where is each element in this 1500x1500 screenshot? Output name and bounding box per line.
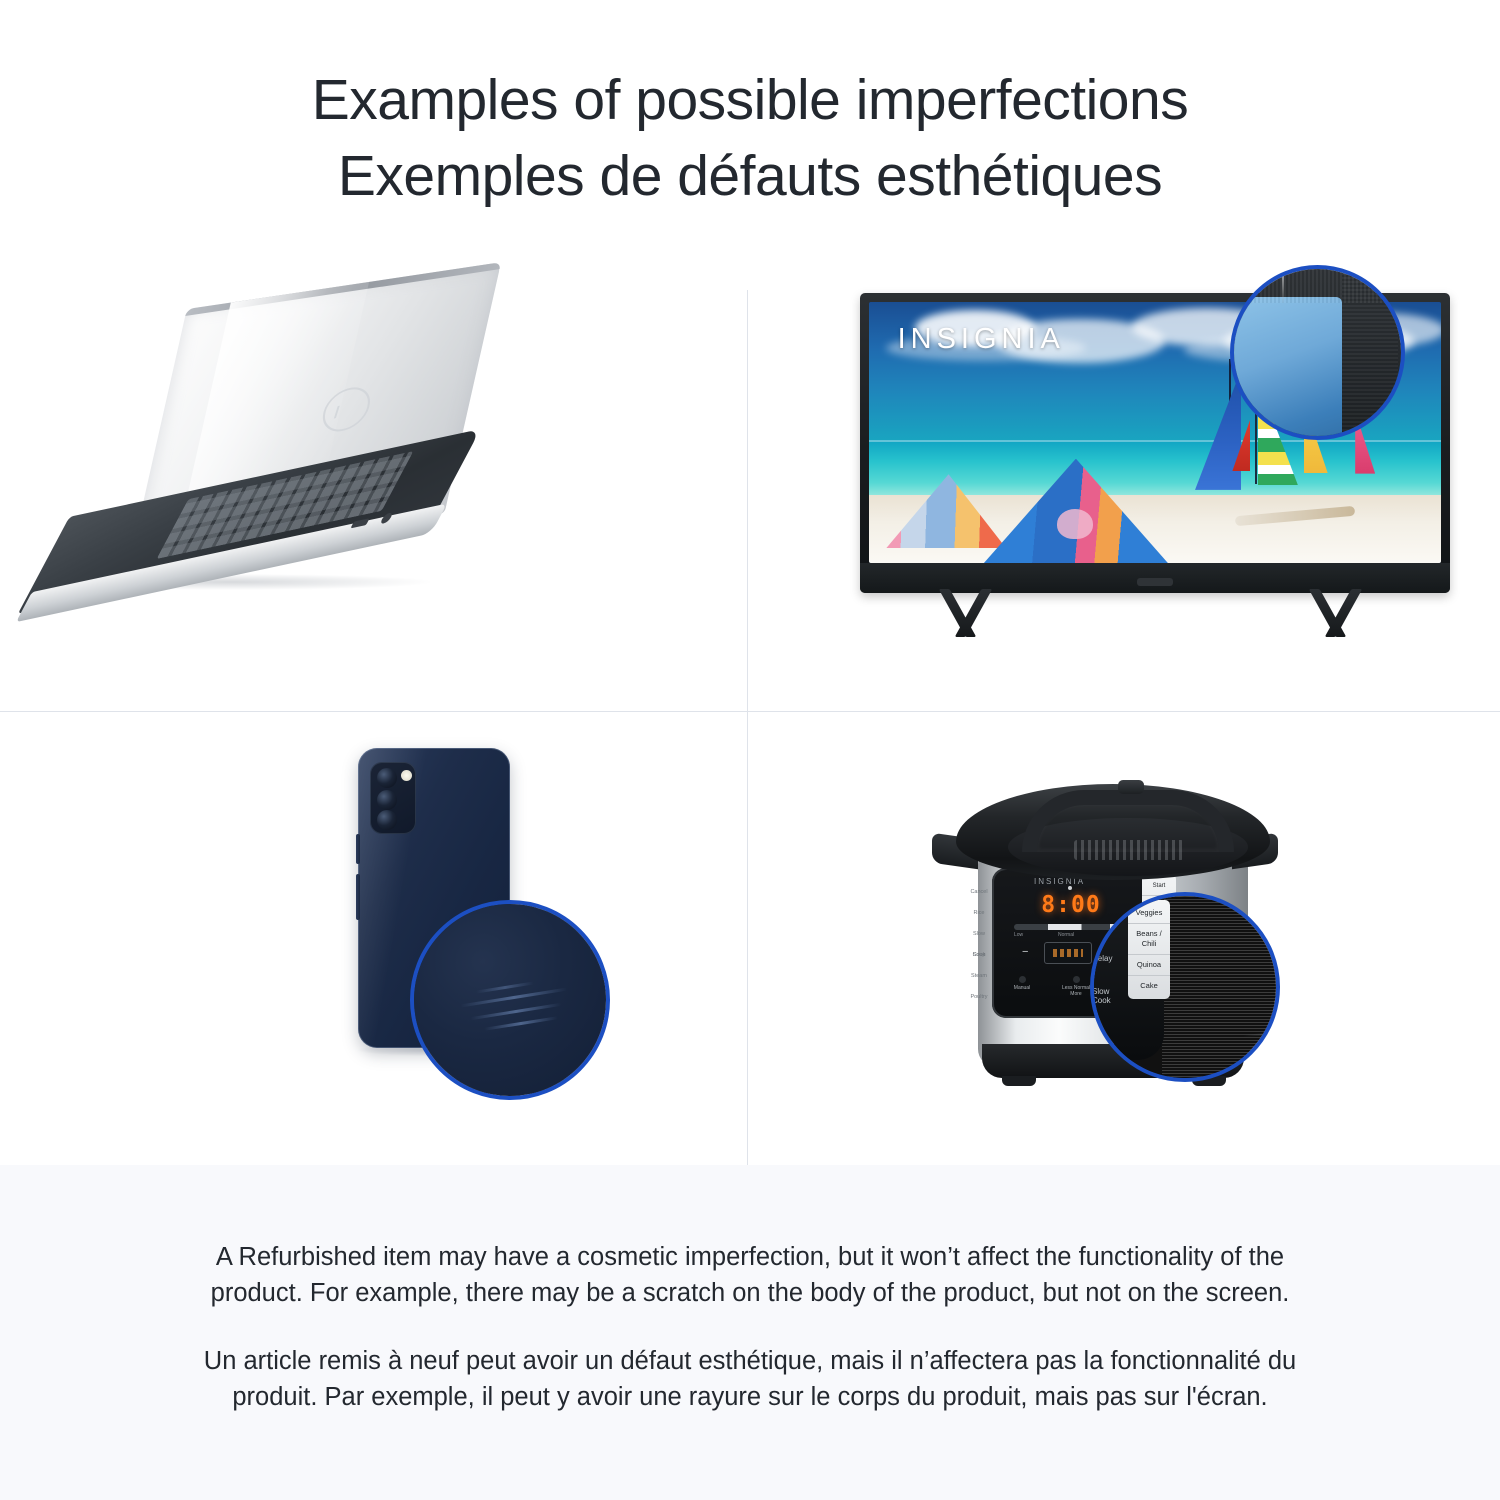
refurbished-imperfections-infographic: Examples of possible imperfections Exemp…	[0, 0, 1500, 1500]
magnified-button-cake[interactable]: Cake	[1128, 976, 1170, 996]
magnified-button-quinoa[interactable]: Quinoa	[1128, 955, 1170, 976]
cooker-scratch-mark	[1244, 1029, 1280, 1036]
camera-lens-icon	[377, 810, 397, 830]
examples-grid: INSIGNIA	[0, 258, 1500, 1165]
camera-lens-icon	[377, 790, 397, 810]
cooker-lid-handle[interactable]	[1022, 790, 1234, 852]
magnifier-tv-bezel	[1230, 265, 1405, 440]
cooker-button-poultry[interactable]: Poultry	[966, 987, 992, 1008]
magnified-button-column: Veggies Beans / Chili Quinoa Cake	[1128, 900, 1170, 999]
magnifier-tv-surface	[1234, 269, 1401, 436]
tv-leg	[1280, 589, 1390, 637]
cooker-pressure-normal-label: Normal	[1058, 932, 1074, 938]
cooker-button-cancel[interactable]: Cancel	[966, 882, 992, 903]
magnified-button-slow-cook[interactable]: Slow Cook	[1090, 975, 1128, 1017]
tv-illustration: INSIGNIA	[860, 293, 1480, 663]
cooker-foot	[1002, 1076, 1036, 1086]
camera-lens-icon	[377, 768, 397, 788]
cooker-button-soup[interactable]: Soup	[966, 945, 992, 966]
disclaimer-french: Un article remis à neuf peut avoir un dé…	[175, 1343, 1325, 1415]
tv-screen-logo: INSIGNIA	[898, 323, 1065, 356]
magnified-button-beans-chili[interactable]: Beans / Chili	[1128, 924, 1170, 955]
phone-scratch-mark	[484, 1016, 558, 1031]
cell-pressure-cooker: INSIGNIA 8:00 Low Normal High − + Manual…	[750, 712, 1500, 1166]
cooker-lower-button[interactable]: Manual	[1006, 976, 1038, 997]
cooker-indicator-led	[1068, 886, 1072, 890]
magnifier-cooker-surface: Delay Slow Cook Veggies Beans / Chili Qu…	[1094, 896, 1276, 1078]
cooker-lower-button-label: Manual	[1014, 985, 1030, 991]
cooker-minus-button[interactable]: −	[1022, 946, 1028, 958]
phone-volume-button	[356, 874, 360, 920]
cooker-button-rice[interactable]: Rice	[966, 903, 992, 924]
magnifier-phone-surface	[414, 904, 606, 1096]
button-led-icon	[1073, 976, 1080, 983]
magnified-button-delay[interactable]: Delay	[1090, 942, 1128, 975]
header: Examples of possible imperfections Exemp…	[0, 0, 1500, 258]
laptop-illustration	[10, 298, 530, 628]
page-title-french: Exemples de défauts esthétiques	[338, 138, 1162, 214]
phone-scratch-mark	[476, 981, 534, 993]
cooker-pressure-low-label: Low	[1014, 932, 1023, 938]
cell-tv: INSIGNIA	[750, 258, 1500, 712]
cooker-button-slow-cook[interactable]: Slow Cook	[966, 924, 992, 945]
magnified-tv-screen	[1230, 297, 1342, 440]
cooker-lower-button[interactable]: Less Normal More	[1060, 976, 1092, 997]
cell-phone	[0, 712, 750, 1166]
magnified-steel-body	[1162, 896, 1280, 1082]
cooker-lid	[956, 784, 1270, 880]
magnified-button-veggies[interactable]: Veggies	[1128, 903, 1170, 924]
camera-flash-icon	[401, 770, 412, 781]
tv-ir-receiver	[1137, 578, 1173, 586]
cooker-button-steam[interactable]: Steam	[966, 966, 992, 987]
cooker-secondary-display	[1044, 942, 1092, 964]
magnifier-phone-scratches	[410, 900, 610, 1100]
phone-power-button	[356, 834, 360, 864]
magnified-tv-top-bezel	[1230, 269, 1405, 303]
pressure-cooker-illustration: INSIGNIA 8:00 Low Normal High − + Manual…	[940, 732, 1360, 1112]
tv-leg	[910, 589, 1020, 637]
tv-scuff-mark	[1282, 273, 1284, 303]
cooker-pressure-valve[interactable]	[1118, 780, 1144, 794]
cell-laptop	[0, 258, 750, 712]
page-title-english: Examples of possible imperfections	[312, 62, 1188, 138]
button-led-icon	[1019, 976, 1026, 983]
footer-disclaimer: A Refurbished item may have a cosmetic i…	[0, 1165, 1500, 1500]
magnified-left-labels: Delay Slow Cook	[1090, 942, 1128, 1017]
magnifier-cooker-scratch: Delay Slow Cook Veggies Beans / Chili Qu…	[1090, 892, 1280, 1082]
cooker-left-button-column: Cancel Rice Slow Cook Soup Steam Poultry	[966, 882, 992, 1008]
camera-module	[370, 762, 416, 834]
phone-illustration	[300, 748, 630, 1098]
cooker-lower-button-label: Less Normal More	[1062, 985, 1090, 997]
disclaimer-english: A Refurbished item may have a cosmetic i…	[175, 1239, 1325, 1311]
